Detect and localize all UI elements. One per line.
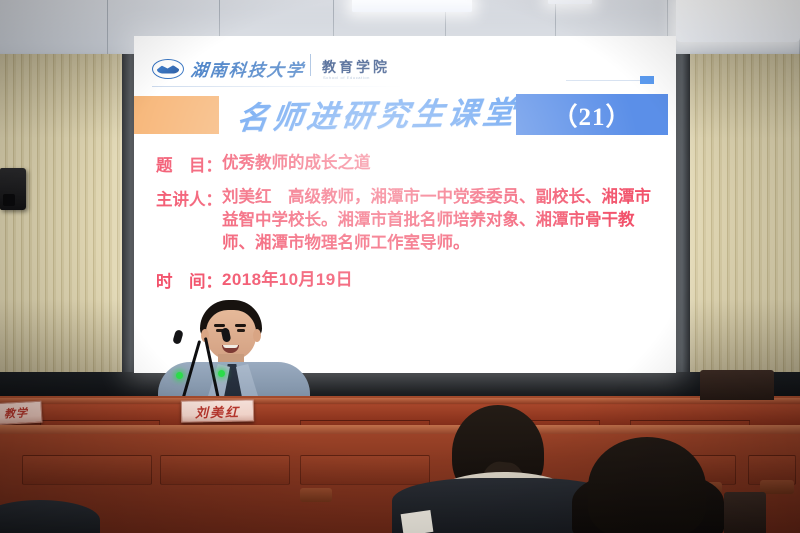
header-underline	[152, 86, 402, 87]
time-value: 2018年10月19日	[222, 268, 353, 291]
slide-header: 湖南科技大学 教育学院 School of Education	[134, 48, 676, 88]
wall-panel-right	[690, 54, 800, 394]
slide-body: 题 目： 优秀教师的成长之道 主讲人： 刘美红 高级教师，湘潭市一中党委委员、副…	[156, 152, 658, 296]
session-number-label: （21）	[552, 97, 631, 133]
screen-bezel-right	[674, 54, 690, 394]
audience-member-head	[588, 437, 706, 533]
slide-title: 名师进研究生课堂	[234, 87, 521, 138]
wall-speaker-device	[0, 168, 26, 210]
speaker-label: 主讲人：	[156, 186, 222, 210]
topic-label: 题 目：	[156, 152, 222, 176]
lecture-hall-scene: 湖南科技大学 教育学院 School of Education 名师进研究生课堂…	[0, 0, 800, 533]
nameplate-secondary: 教学	[0, 401, 43, 426]
ceiling-light-panel	[676, 0, 800, 42]
nameplate-speaker: 刘美红	[181, 399, 254, 422]
audience-desk-top	[0, 425, 800, 434]
university-logo: 湖南科技大学	[152, 56, 305, 81]
ceiling-light-panel	[548, 0, 592, 4]
logo-divider	[310, 54, 311, 76]
slide-title-band: 名师进研究生课堂 （21）	[134, 92, 676, 138]
podium-edge	[0, 398, 800, 404]
microphone-led-icon	[218, 370, 225, 377]
nameplate-speaker-text: 刘美红	[195, 401, 240, 421]
nameplate-secondary-text: 教学	[4, 404, 29, 421]
slide-field-topic: 题 目： 优秀教师的成长之道	[156, 152, 658, 176]
speaker-person	[150, 300, 320, 410]
speaker-value: 刘美红 高级教师，湘潭市一中党委委员、副校长、湘潭市益智中学校长。湘潭市首批名师…	[222, 186, 658, 254]
college-name: 教育学院	[322, 57, 390, 77]
chair-armrest	[300, 488, 332, 502]
wall-panel-left	[0, 54, 130, 394]
header-accent-mark	[640, 76, 654, 84]
slide-field-speaker: 主讲人： 刘美红 高级教师，湘潭市一中党委委员、副校长、湘潭市益智中学校长。湘潭…	[156, 186, 658, 254]
ceiling-light-panel	[352, 0, 472, 12]
chair	[700, 370, 774, 400]
university-name: 湖南科技大学	[190, 56, 307, 81]
audience-paper	[401, 510, 434, 533]
university-emblem-icon	[152, 59, 184, 79]
time-label: 时 间：	[156, 268, 222, 292]
microphone-led-icon	[176, 372, 183, 379]
college-name-english: School of Education	[323, 75, 370, 80]
topic-value: 优秀教师的成长之道	[222, 152, 371, 175]
header-rule	[566, 80, 640, 81]
chair	[724, 492, 766, 533]
slide-field-time: 时 间： 2018年10月19日	[156, 268, 658, 292]
accent-block-orange	[134, 96, 219, 134]
session-number-badge: （21）	[516, 94, 668, 135]
